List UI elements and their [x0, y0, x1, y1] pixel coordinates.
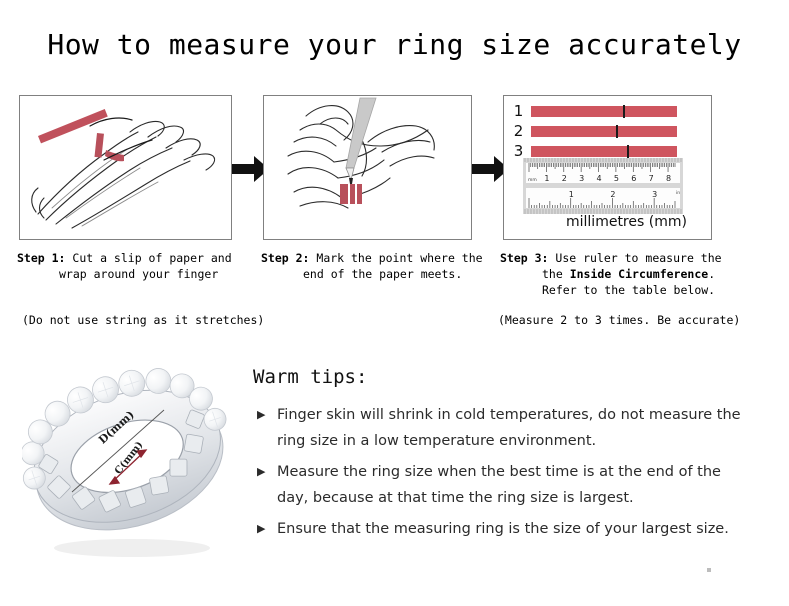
step-3-label: Step 3: — [500, 251, 548, 265]
step-2-illustration-panel — [263, 95, 472, 240]
image-artifact-speck — [707, 568, 711, 572]
step-2-line2: end of the paper meets. — [261, 266, 491, 282]
step-1-label: Step 1: — [17, 251, 65, 265]
paper-strip-marked — [340, 184, 362, 204]
warm-tips-list: ▶ Finger skin will shrink in cold temper… — [255, 402, 755, 547]
svg-text:2: 2 — [610, 190, 615, 199]
svg-text:3: 3 — [652, 190, 657, 199]
list-item: ▶ Ensure that the measuring ring is the … — [255, 516, 755, 542]
paper-strip-red — [38, 109, 124, 161]
tip-text: Measure the ring size when the best time… — [277, 464, 721, 506]
step-3-line2: the Inside Circumference. — [500, 266, 750, 282]
triangle-bullet-icon: ▶ — [257, 459, 265, 485]
step-2-line1: Mark the point where the — [309, 251, 482, 265]
step-2-label: Step 2: — [261, 251, 309, 265]
step-3-note: (Measure 2 to 3 times. Be accurate) — [498, 313, 740, 327]
svg-text:6: 6 — [631, 174, 636, 183]
pen-icon — [346, 98, 376, 184]
triangle-bullet-icon: ▶ — [257, 402, 265, 428]
strip-mark-1 — [623, 105, 625, 118]
step-1-line1: Cut a slip of paper and — [65, 251, 231, 265]
strip-mark-2 — [616, 125, 618, 138]
svg-text:5: 5 — [614, 174, 619, 183]
svg-text:2: 2 — [562, 174, 567, 183]
step-3-line2-pre: the — [542, 267, 570, 281]
measured-strip-row-2: 2 — [511, 122, 677, 140]
list-item: ▶ Measure the ring size when the best ti… — [255, 459, 755, 511]
svg-text:1: 1 — [544, 174, 549, 183]
page-title: How to measure your ring size accurately — [0, 28, 789, 61]
svg-text:8: 8 — [666, 174, 671, 183]
inside-circumference-emphasis: Inside Circumference — [570, 267, 708, 281]
warm-tips-heading: Warm tips: — [253, 366, 367, 388]
svg-text:1: 1 — [569, 190, 574, 199]
step-3-caption: Step 3: Use ruler to measure the the Ins… — [500, 250, 750, 298]
step-2-caption: Step 2: Mark the point where the end of … — [261, 250, 491, 282]
step-3-line3: Refer to the table below. — [500, 282, 750, 298]
paper-strip-3 — [531, 146, 677, 157]
svg-text:4: 4 — [597, 174, 602, 183]
strip-mark-3 — [627, 145, 629, 158]
step-1-line2: wrap around your finger — [17, 266, 247, 282]
ruler-graphic: 12345678 mm 123 in — [523, 158, 683, 214]
ruler-mm-unit: mm — [528, 178, 537, 183]
step-3-line1: Use ruler to measure the — [548, 251, 721, 265]
svg-text:3: 3 — [579, 174, 584, 183]
strip-number-2: 2 — [511, 122, 526, 140]
ruler-unit-label: millimetres (mm) — [566, 214, 687, 230]
step-1-illustration-panel — [19, 95, 232, 240]
step-1-caption: Step 1: Cut a slip of paper and wrap aro… — [17, 250, 247, 282]
tip-text: Ensure that the measuring ring is the si… — [277, 521, 729, 537]
ruler-inch-unit: in — [676, 190, 680, 196]
hand-with-paper-strip-drawing — [20, 96, 231, 239]
step-3-line2-post: . — [708, 267, 715, 281]
list-item: ▶ Finger skin will shrink in cold temper… — [255, 402, 755, 454]
svg-text:7: 7 — [649, 174, 654, 183]
strip-number-1: 1 — [511, 102, 526, 120]
measured-strip-row-1: 1 — [511, 102, 677, 120]
hand-marking-paper-drawing — [264, 96, 471, 239]
tip-text: Finger skin will shrink in cold temperat… — [277, 407, 741, 449]
paper-strip-2 — [531, 126, 677, 137]
ring-size-guide-page: How to measure your ring size accurately — [0, 0, 789, 606]
paper-strip-1 — [531, 106, 677, 117]
triangle-bullet-icon: ▶ — [257, 516, 265, 542]
step-1-note: (Do not use string as it stretches) — [22, 313, 264, 327]
